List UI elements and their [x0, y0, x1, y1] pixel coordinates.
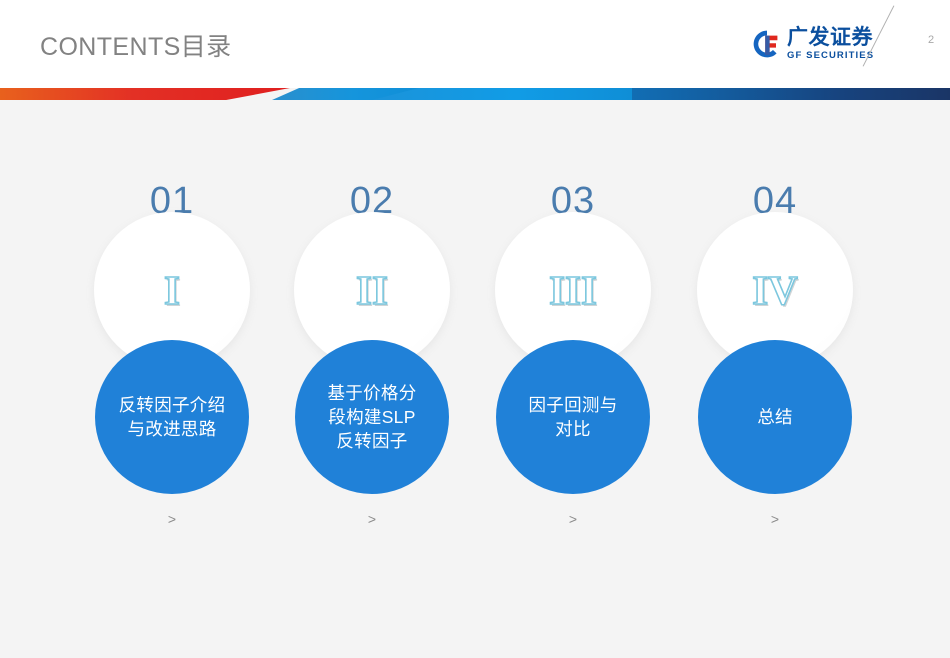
- page-title: CONTENTS目录: [40, 27, 232, 63]
- section-label-circle[interactable]: 因子回测与 对比: [496, 340, 650, 494]
- accent-bar: [0, 88, 950, 100]
- page-number: 2: [928, 34, 934, 46]
- brand-name-cn: 广发证券: [787, 27, 874, 48]
- roman-numeral-i: I: [164, 270, 180, 311]
- slide-root: CONTENTS目录 广发证券 GF SECURITIES 2: [0, 0, 950, 658]
- section-label-circle[interactable]: 总结: [698, 340, 852, 494]
- chevron-right-icon[interactable]: >: [72, 512, 272, 526]
- chevron-right-icon[interactable]: >: [675, 512, 875, 526]
- section-label: 基于价格分 段构建SLP 反转因子: [316, 381, 429, 453]
- chevron-right-icon[interactable]: >: [473, 512, 673, 526]
- roman-numeral-iii: III: [549, 270, 597, 311]
- contents-item-04[interactable]: 04 IV 总结 >: [675, 100, 875, 560]
- slide-header: CONTENTS目录 广发证券 GF SECURITIES 2: [0, 0, 950, 88]
- brand-name-en: GF SECURITIES: [787, 51, 874, 61]
- gf-logo-mark-icon: [752, 29, 782, 59]
- contents-item-02[interactable]: 02 II 基于价格分 段构建SLP 反转因子 >: [272, 100, 472, 560]
- brand-text: 广发证券 GF SECURITIES: [787, 27, 874, 61]
- section-label: 反转因子介绍 与改进思路: [107, 393, 238, 441]
- roman-numeral-iv: IV: [752, 270, 798, 311]
- accent-bar-warm-segment: [0, 88, 290, 100]
- section-label-circle[interactable]: 基于价格分 段构建SLP 反转因子: [295, 340, 449, 494]
- roman-numeral-ii: II: [356, 270, 388, 311]
- contents-item-03[interactable]: 03 III 因子回测与 对比 >: [473, 100, 673, 560]
- contents-item-01[interactable]: 01 I 反转因子介绍 与改进思路 >: [72, 100, 272, 560]
- brand-logo: 广发证券 GF SECURITIES: [752, 22, 874, 66]
- contents-columns: 01 I 反转因子介绍 与改进思路 > 02 II 基于价格分 段构建SLP 反…: [0, 100, 950, 658]
- section-label: 因子回测与 对比: [517, 393, 630, 441]
- chevron-right-icon[interactable]: >: [272, 512, 472, 526]
- section-label: 总结: [745, 405, 805, 429]
- section-label-circle[interactable]: 反转因子介绍 与改进思路: [95, 340, 249, 494]
